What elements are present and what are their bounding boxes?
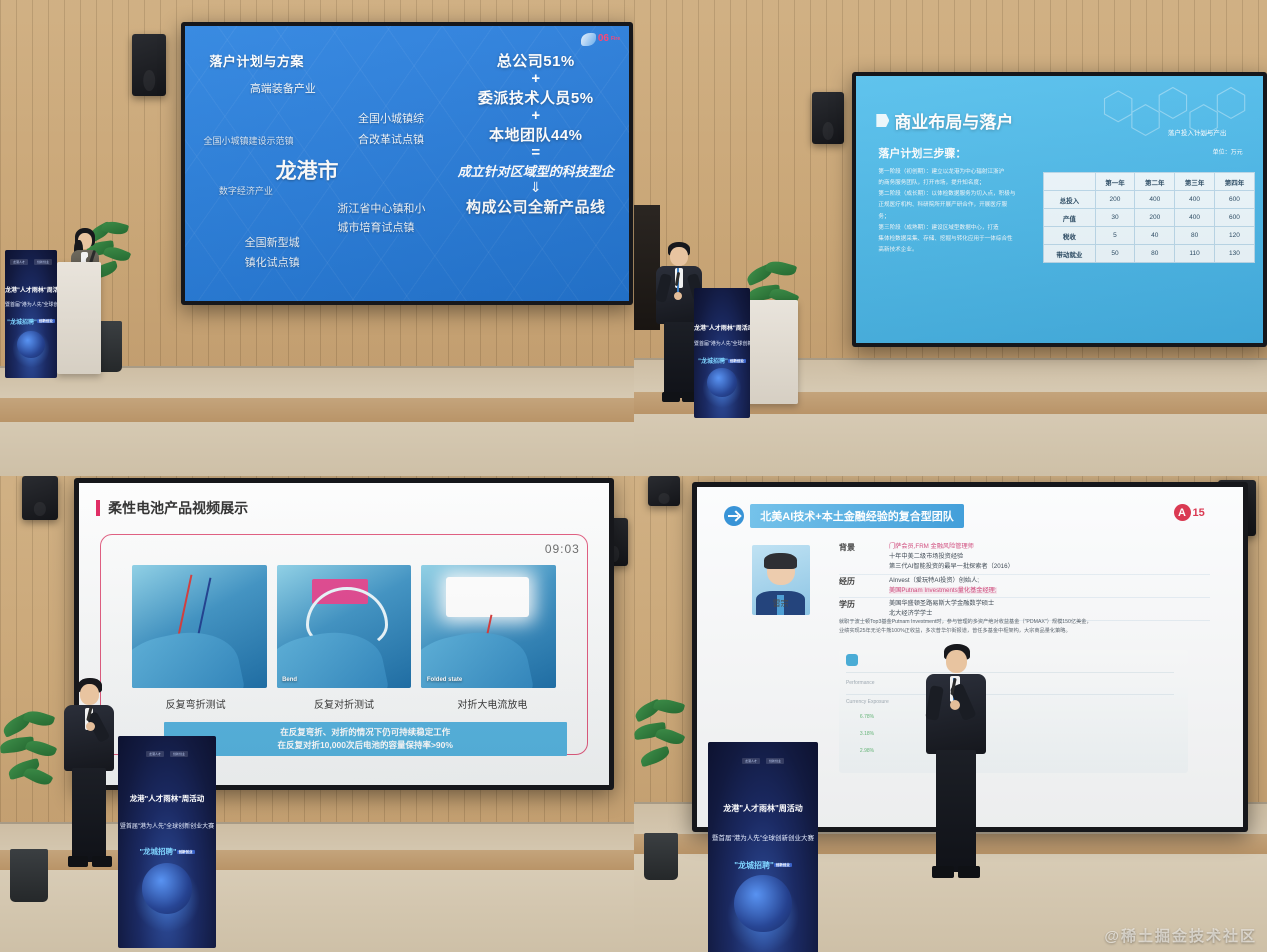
equation-conclusion: 构成公司全新产品线: [447, 196, 625, 217]
fire-logo-number: 06: [598, 34, 609, 44]
dashboard-logo-icon: [846, 654, 858, 666]
cell-0-2: 400: [1175, 191, 1215, 209]
body-line-0: 第一阶段（初创期）：建立以龙港为中心辐射江浙沪: [878, 167, 1041, 178]
equation-equals: =: [447, 147, 625, 159]
cell-0-3: 600: [1215, 191, 1255, 209]
stage-edge: [0, 398, 634, 422]
banner-tag: 创新创业: [774, 863, 792, 867]
slide-title-group: 商业布局与落户: [876, 108, 1013, 133]
equation-result: 成立针对区域型的科技型企: [447, 161, 625, 180]
body-line-4: 务；: [878, 212, 1041, 223]
banner-line-3: "龙城招聘": [7, 320, 37, 326]
banner-logo-right: 创新创业: [34, 259, 52, 265]
slide-settlement-plan: 06 Fire 落户计划与方案 高端装备产业 全国小城镇综 合改革试点镇 全国小…: [185, 26, 629, 301]
cloud-term-6: 浙江省中心镇和小: [337, 203, 425, 216]
demo-photos: Bend Folded state: [132, 565, 556, 689]
body-line-2: 第二阶段（成长期）：以体检数据服务为切入点，积极与: [878, 189, 1041, 200]
profile-rows: 背景 门萨会员,FRM 金融风险管理师 十年中美二级市场投资经验 第三代AI智能…: [839, 541, 1210, 620]
banner-tag: 创新创业: [728, 359, 746, 363]
th-1: 第一年: [1095, 173, 1135, 191]
banner-line-1: 龙港"人才雨林"周活动: [5, 285, 57, 294]
bg-line-2: 第三代AI智能投资的最早一批探索者（2016）: [889, 563, 1014, 570]
wall-speaker: [648, 476, 680, 506]
row-label-background: 背景: [839, 542, 879, 572]
photo-overlay-label-2: Folded state: [427, 677, 462, 683]
cloud-term-3: 全国小城镇建设示范镇: [203, 136, 293, 147]
wall-speaker: [132, 34, 166, 96]
photo-caption-2: 对折大电流放电: [418, 696, 566, 711]
sponsor-badge: A 15: [1174, 504, 1205, 521]
badge-letter: A: [1174, 504, 1191, 521]
th-2: 第二年: [1135, 173, 1175, 191]
fire-logo-word: Fire: [611, 36, 620, 42]
banner-text-1: 在反复对折10,000次后电池的容量保持率>90%: [170, 739, 561, 752]
note-line-0: 就职于波士顿Top3基金Putnam Investment时，参与管理的多资产绝…: [839, 618, 1216, 627]
table-row: 带动就业 50 80 110 130: [1044, 245, 1255, 263]
cell-1-3: 600: [1215, 209, 1255, 227]
title-accent-bar: [96, 500, 100, 516]
investment-plan-table: 第一年 第二年 第三年 第四年 总投入 200 400 400 600: [1043, 172, 1255, 263]
cell-1-1: 200: [1135, 209, 1175, 227]
slide-subtitle: 落户计划三步骤：: [878, 145, 966, 161]
cell-2-1: 40: [1135, 227, 1175, 245]
lectern: [742, 300, 798, 404]
panel-top-right: 商业布局与落户 落户投入计划与产出 单位：万元 落户计划三步骤： 第一阶段（初创…: [634, 0, 1267, 476]
potted-plant: [634, 700, 688, 880]
plant-pot: [10, 849, 47, 902]
cloud-term-1: 全国小城镇综: [358, 113, 424, 126]
demo-photo-0: [132, 565, 267, 689]
cell-0-1: 400: [1135, 191, 1175, 209]
demo-photo-1: Bend: [277, 565, 412, 689]
demo-photo-2: Folded state: [421, 565, 556, 689]
cloud-term-7: 城市培育试点镇: [337, 222, 414, 235]
slide-title: 柔性电池产品视频展示: [108, 498, 248, 518]
row-label-0: 总投入: [1044, 191, 1095, 209]
body-line-5: 第三阶段（成熟期）：建设区域型数据中心，打造: [878, 223, 1041, 234]
dashboard-value-0: 6.78%: [860, 714, 874, 720]
event-banner: 龙港人才 创新创业 龙港"人才雨林"周活动 暨首届"港为人先"全球创新创业大赛 …: [118, 736, 216, 948]
equation-term-2: 本地团队44%: [447, 124, 625, 145]
equation-plus-0: +: [447, 73, 625, 85]
slide-title: 落户计划与方案: [209, 51, 304, 70]
profile-row: 经历 AInvest（爱玩特AI投资）创始人; 美国Putnam Investm…: [839, 575, 1210, 598]
slide-body: 第一阶段（初创期）：建立以龙港为中心辐射江浙沪 的商务服务团队，打开市场，提升知…: [878, 167, 1041, 257]
equation-term-0: 总公司51%: [447, 50, 625, 71]
projection-screen: 商业布局与落户 落户投入计划与产出 单位：万元 落户计划三步骤： 第一阶段（初创…: [852, 72, 1267, 347]
banner-logo-left: 龙港人才: [742, 758, 760, 764]
cell-3-3: 130: [1215, 245, 1255, 263]
cloud-term-5: 数字经济产业: [219, 186, 273, 197]
photo-caption-0: 反复弯折测试: [121, 696, 269, 711]
table-row: 产值 30 200 400 600: [1044, 209, 1255, 227]
dashboard-screenshot: Performance Currency Exposure 6.78% 3.18…: [839, 650, 1188, 772]
banner-logos: 龙港人才 创新创业: [708, 758, 818, 764]
photo-overlay-label-1: Bend: [282, 677, 297, 683]
exp-line-1: 美国Putnam Investments量化基金经理;: [889, 587, 997, 594]
th-3: 第三年: [1175, 173, 1215, 191]
banner-line-3: "龙城招聘": [698, 359, 728, 365]
cloud-term-0: 高端装备产业: [250, 83, 316, 96]
bg-line-1: 十年中美二级市场投资经验: [889, 553, 963, 560]
cell-2-3: 120: [1215, 227, 1255, 245]
banner-logos: 龙港人才 创新创业: [5, 259, 57, 265]
row-label-2: 税收: [1044, 227, 1095, 245]
banner-line-2: 暨首届"港为人先"全球创新创业大赛: [118, 821, 216, 830]
presenter: [58, 678, 120, 878]
banner-line-3: "龙城招聘": [734, 861, 774, 870]
profile-note: 就职于波士顿Top3基金Putnam Investment时，参与管理的多资产绝…: [839, 618, 1216, 637]
cell-3-2: 110: [1175, 245, 1215, 263]
conclusion-banner: 在反复弯折、对折的情况下仍可持续稳定工作 在反复对折10,000次后电池的容量保…: [164, 722, 567, 756]
banner-line-1: 龙港"人才雨林"周活动: [694, 323, 750, 332]
slide-title-group: 北美AI技术+本土金融经验的复合型团队: [724, 504, 963, 528]
th-4: 第四年: [1215, 173, 1255, 191]
wall-speaker: [22, 476, 58, 520]
body-line-6: 集体检数据采集、存储、挖掘与转化应用于一体综合性: [878, 234, 1041, 245]
cell-1-0: 30: [1095, 209, 1135, 227]
table-caption: 落户投入计划与产出: [1168, 127, 1227, 137]
dashboard-value-1: 3.18%: [860, 731, 874, 737]
banner-logo-right: 创新创业: [766, 758, 784, 764]
banner-line-3: "龙城招聘": [139, 847, 176, 856]
globe-graphic: [707, 368, 736, 397]
edu-line-0: 美国华盛顿圣路易斯大学金融数学硕士: [889, 600, 994, 607]
pentagon-bullet-icon: [876, 114, 889, 127]
panel-bottom-left: 柔性电池产品视频展示 09:03: [0, 476, 634, 952]
photo-grid: 06 Fire 落户计划与方案 高端装备产业 全国小城镇综 合改革试点镇 全国小…: [0, 0, 1267, 952]
wall-speaker: [812, 92, 844, 144]
dashboard-value-2: 2.98%: [860, 748, 874, 754]
photo-caption-1: 反复对折测试: [270, 696, 418, 711]
globe-graphic: [17, 331, 44, 358]
bg-line-0: 门萨会员,FRM 金融风险管理师: [889, 543, 974, 550]
banner-text-0: 在反复弯折、对折的情况下仍可持续稳定工作: [170, 726, 561, 739]
fire-swoosh-icon: [581, 33, 596, 46]
watermark: @稀土掘金技术社区: [1104, 925, 1257, 946]
banner-line-2: 暨首届"港为人先"全球创新创业大赛: [708, 832, 818, 842]
badge-number: 15: [1193, 507, 1205, 519]
equation-plus-1: +: [447, 110, 625, 122]
equation-column: 总公司51% + 委派技术人员5% + 本地团队44% = 成立针对区域型的科技…: [447, 48, 625, 219]
equation-term-1: 委派技术人员5%: [447, 87, 625, 108]
note-line-1: 业绩实现25年无论牛熊100%正收益，多次普华尔街报道，曾任多基金中枢架构，大宗…: [839, 627, 1216, 636]
cell-3-1: 80: [1135, 245, 1175, 263]
th-0: [1044, 173, 1095, 191]
panel-bottom-right: 北美AI技术+本土金融经验的复合型团队 A 15 雷宗 背景: [634, 476, 1267, 952]
exp-line-0: AInvest（爱玩特AI投资）创始人;: [889, 577, 979, 584]
plant-pot: [644, 833, 679, 880]
edu-line-1: 北大经济学学士: [889, 610, 932, 617]
cell-2-0: 5: [1095, 227, 1135, 245]
banner-logo-right: 创新创业: [170, 751, 188, 757]
table-row: 总投入 200 400 400 600: [1044, 191, 1255, 209]
body-line-3: 正规医疗机构、科研院所开展产研合作，开展医疗服: [878, 200, 1041, 211]
presenter: [920, 644, 992, 902]
cell-0-0: 200: [1095, 191, 1135, 209]
event-banner: 龙港"人才雨林"周活动 暨首届"港为人先"全球创新创业大赛 "龙城招聘"创新创业: [694, 288, 750, 418]
cloud-term-2: 合改革试点镇: [358, 134, 424, 147]
potted-plant: [0, 712, 58, 902]
cell-3-0: 50: [1095, 245, 1135, 263]
slide-title: 商业布局与落户: [894, 108, 1013, 133]
globe-graphic: [734, 875, 791, 932]
table-header-row: 第一年 第二年 第三年 第四年: [1044, 173, 1255, 191]
cloud-term-8: 全国新型城: [245, 237, 300, 250]
down-arrow-icon: ⇓: [447, 181, 625, 194]
cloud-term-main: 龙港市: [276, 160, 339, 185]
row-label-education: 学历: [839, 599, 879, 619]
projection-screen: 06 Fire 落户计划与方案 高端装备产业 全国小城镇综 合改革试点镇 全国小…: [181, 22, 633, 305]
table-unit: 单位：万元: [1213, 147, 1243, 156]
slide-business-layout: 商业布局与落户 落户投入计划与产出 单位：万元 落户计划三步骤： 第一阶段（初创…: [856, 76, 1263, 343]
cloud-term-9: 镇化试点镇: [245, 257, 300, 270]
fire-logo: 06 Fire: [581, 33, 620, 46]
banner-logo-left: 龙港人才: [10, 259, 28, 265]
profile-row: 背景 门萨会员,FRM 金融风险管理师 十年中美二级市场投资经验 第三代AI智能…: [839, 541, 1210, 574]
slide-title: 北美AI技术+本土金融经验的复合型团队: [760, 511, 953, 523]
panel-top-left: 06 Fire 落户计划与方案 高端装备产业 全国小城镇综 合改革试点镇 全国小…: [0, 0, 634, 476]
banner-line-1: 龙港"人才雨林"周活动: [708, 803, 818, 814]
dashboard-label-currency: Currency Exposure: [846, 699, 889, 705]
word-cloud: 高端装备产业 全国小城镇综 合改革试点镇 全国小城镇建设示范镇 龙港市 数字经济…: [198, 70, 456, 285]
banner-logo-left: 龙港人才: [146, 751, 164, 757]
table-row: 税收 5 40 80 120: [1044, 227, 1255, 245]
event-banner: 龙港人才 创新创业 龙港"人才雨林"周活动 暨首届"港为人先"全球创新创业大赛 …: [708, 742, 818, 952]
banner-line-2: 暨首届"港为人先"全球创新创业大赛: [694, 340, 750, 347]
banner-line-1: 龙港"人才雨林"周活动: [118, 793, 216, 804]
banner-tag: 创新创业: [37, 319, 55, 323]
body-line-7: 高新技术企业。: [878, 245, 1041, 256]
dashboard-label-performance: Performance: [846, 680, 875, 686]
globe-graphic: [142, 863, 193, 914]
body-line-1: 的商务服务团队，打开市场，提升知名度；: [878, 178, 1041, 189]
lectern: [57, 262, 101, 374]
banner-tag: 创新创业: [177, 850, 195, 854]
profile-name: 雷宗: [752, 598, 810, 609]
countdown-timer: 09:03: [545, 542, 580, 556]
row-label-3: 带动就业: [1044, 245, 1095, 263]
event-banner: 龙港人才 创新创业 龙港"人才雨林"周活动 暨首届"港为人先"全球创新创业大赛 …: [5, 250, 57, 378]
banner-line-2: 暨首届"港为人先"全球创新创业大赛: [5, 301, 57, 308]
photo-captions: 反复弯折测试 反复对折测试 对折大电流放电: [121, 696, 566, 711]
cell-1-2: 400: [1175, 209, 1215, 227]
banner-logos: 龙港人才 创新创业: [118, 751, 216, 757]
cell-2-2: 80: [1175, 227, 1215, 245]
arrow-right-icon: [724, 506, 744, 526]
row-label-experience: 经历: [839, 576, 879, 596]
row-label-1: 产值: [1044, 209, 1095, 227]
